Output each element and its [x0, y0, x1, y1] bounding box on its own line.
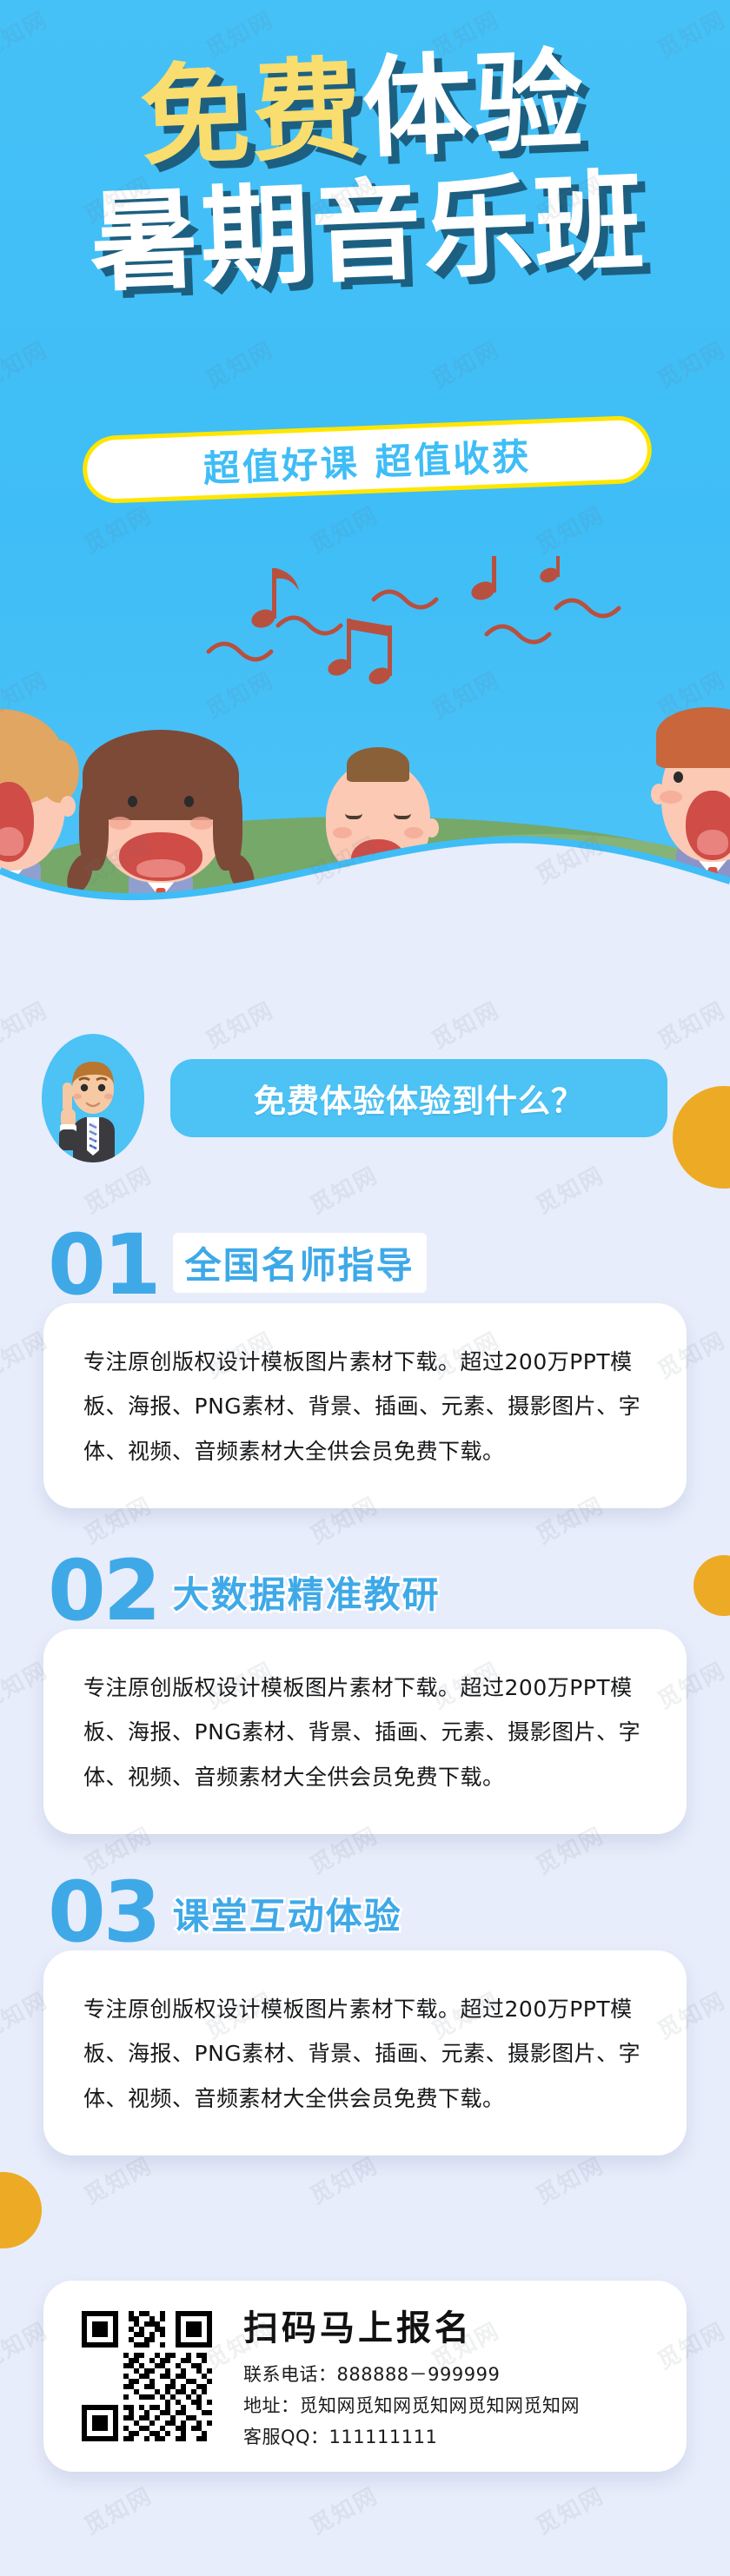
hero-subtitle-text: 超值好课 超值收获: [202, 427, 533, 492]
watermark-text: 觅知网: [303, 2148, 383, 2210]
section-01-body: 专注原创版权设计模板图片素材下载。超过200万PPT模板、海报、PNG素材、背景…: [83, 1340, 647, 1473]
footer-title: 扫码马上报名: [243, 2300, 580, 2350]
teacher-avatar-icon: [42, 1034, 144, 1162]
footer-phone: 联系电话：888888－999999: [243, 2359, 580, 2390]
watermark-text: 觅知网: [77, 1157, 157, 1220]
section-03-title: 课堂互动体验: [173, 1887, 402, 1940]
section-03: 03 课堂互动体验 专注原创版权设计模板图片素材下载。超过200万PPT模板、海…: [0, 1859, 730, 2155]
question-text: 免费体验体验到什么？: [254, 1075, 584, 1122]
watermark-text: 觅知网: [529, 2478, 609, 2540]
section-01-number: 01: [48, 1227, 159, 1303]
footer-text-block: 扫码马上报名 联系电话：888888－999999 地址：觅知网觅知网觅知网觅知…: [243, 2300, 580, 2453]
watermark-text: 觅知网: [77, 2148, 157, 2210]
section-02-title: 大数据精准教研: [173, 1566, 441, 1619]
question-banner: 免费体验体验到什么？: [42, 1034, 667, 1162]
question-pill: 免费体验体验到什么？: [170, 1059, 667, 1137]
footer-address: 地址：觅知网觅知网觅知网觅知网觅知网: [243, 2390, 580, 2421]
section-03-header: 03 课堂互动体验: [0, 1859, 730, 1950]
section-02-header: 02 大数据精准教研: [0, 1538, 730, 1629]
deco-circle-right-1: [673, 1086, 730, 1189]
section-02-body: 专注原创版权设计模板图片素材下载。超过200万PPT模板、海报、PNG素材、背景…: [83, 1665, 647, 1799]
watermark-text: 觅知网: [77, 2478, 157, 2540]
section-01: 01 全国名师指导 专注原创版权设计模板图片素材下载。超过200万PPT模板、海…: [0, 1212, 730, 1508]
section-03-card: 专注原创版权设计模板图片素材下载。超过200万PPT模板、海报、PNG素材、背景…: [43, 1950, 687, 2155]
hero-title-free: 免费: [138, 45, 365, 182]
hero-section: 免费体验 暑期音乐班 超值好课 超值收获: [0, 0, 730, 956]
poster-root: 免费体验 暑期音乐班 超值好课 超值收获: [0, 0, 730, 2576]
hero-title-line-2: 暑期音乐班: [0, 157, 730, 309]
watermark-text: 觅知网: [529, 2148, 609, 2210]
section-02: 02 大数据精准教研 专注原创版权设计模板图片素材下载。超过200万PPT模板、…: [0, 1538, 730, 1834]
watermark-text: 觅知网: [529, 1157, 609, 1220]
hero-wave-divider: [0, 791, 730, 956]
watermark-text: 觅知网: [303, 1157, 383, 1220]
section-01-title: 全国名师指导: [173, 1233, 427, 1293]
footer-qq: 客服QQ：111111111: [243, 2421, 580, 2453]
section-03-body: 专注原创版权设计模板图片素材下载。超过200万PPT模板、海报、PNG素材、背景…: [83, 1987, 647, 2121]
footer-contact-card: 扫码马上报名 联系电话：888888－999999 地址：觅知网觅知网觅知网觅知…: [43, 2281, 687, 2472]
hero-title-block: 免费体验 暑期音乐班: [0, 34, 730, 309]
section-01-card: 专注原创版权设计模板图片素材下载。超过200万PPT模板、海报、PNG素材、背景…: [43, 1303, 687, 1508]
registration-qr-code-icon[interactable]: [82, 2311, 212, 2441]
deco-circle-left-1: [0, 2172, 42, 2248]
hero-title-experience: 体验: [360, 36, 587, 173]
section-03-number: 03: [48, 1874, 159, 1950]
watermark-text: 觅知网: [303, 2478, 383, 2540]
section-01-header: 01 全国名师指导: [0, 1212, 730, 1303]
section-02-card: 专注原创版权设计模板图片素材下载。超过200万PPT模板、海报、PNG素材、背景…: [43, 1629, 687, 1834]
section-02-number: 02: [48, 1553, 159, 1629]
